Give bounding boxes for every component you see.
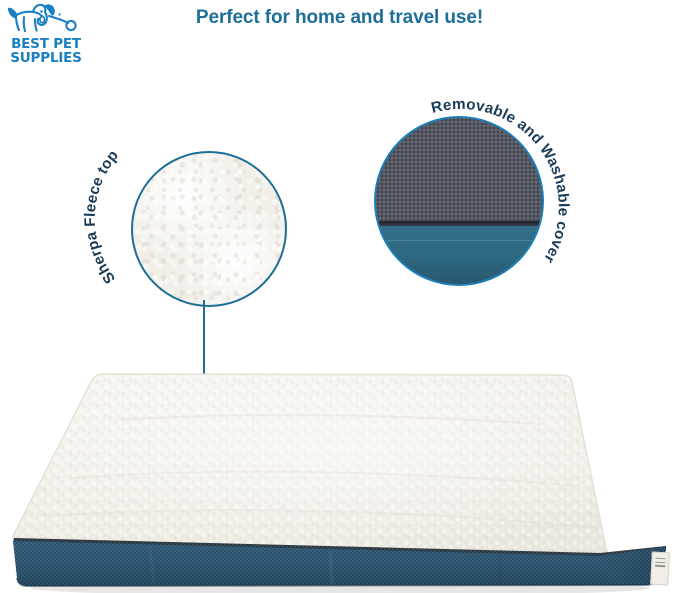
product-dog-bed — [0, 0, 679, 593]
care-label-tag — [650, 552, 670, 586]
infographic-canvas: BEST PET SUPPLIES Perfect for home and t… — [0, 0, 679, 593]
bed-top-surface — [0, 360, 679, 570]
